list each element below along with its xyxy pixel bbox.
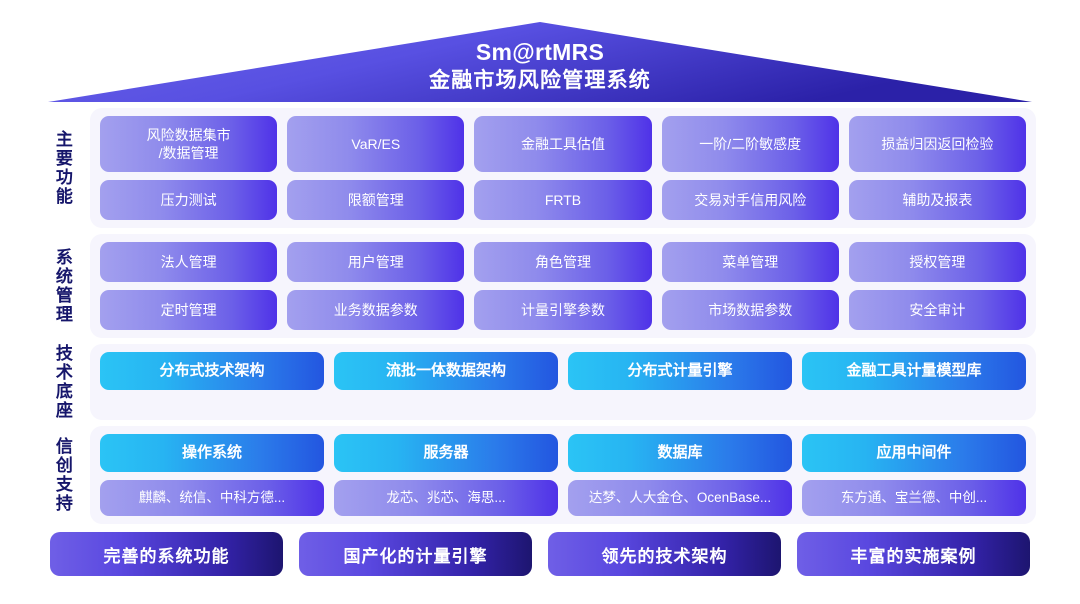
system-tile-label-0-0: 法人管理 (161, 253, 217, 271)
function-tile[interactable]: 损益归因返回检验 (849, 116, 1026, 172)
architecture-board: 主要功能 风险数据集市/数据管理 VaR/ES 金融工具估值 一阶/二阶敏感度 … (0, 108, 1080, 530)
function-tile-label-1-4: 辅助及报表 (902, 191, 972, 209)
innovation-category-tile[interactable]: 操作系统 (100, 434, 324, 472)
system-tile-label-1-0: 定时管理 (161, 301, 217, 319)
highlight-banner-row: 完善的系统功能 国产化的计量引擎 领先的技术架构 丰富的实施案例 (50, 532, 1030, 576)
innovation-category-label-3: 应用中间件 (876, 444, 951, 462)
tech-tile-label-1: 流批一体数据架构 (386, 362, 506, 380)
tech-tile[interactable]: 分布式计量引擎 (568, 352, 792, 390)
function-tile-label-1-1: 限额管理 (348, 191, 404, 209)
innovation-vendor-label-3: 东方通、宝兰德、中创... (841, 489, 987, 507)
tech-tile-label-3: 金融工具计量模型库 (846, 362, 981, 380)
roof-header: Sm@rtMRS 金融市场风险管理系统 (0, 0, 1080, 108)
innovation-category-label-2: 数据库 (657, 444, 702, 462)
tech-tile-label-0: 分布式技术架构 (159, 362, 264, 380)
system-tile[interactable]: 市场数据参数 (662, 290, 839, 330)
innovation-header-row: 操作系统 服务器 数据库 应用中间件 (100, 434, 1026, 472)
system-tile-label-1-1: 业务数据参数 (334, 301, 418, 319)
innovation-vendor-label-2: 达梦、人大金仓、OcenBase... (589, 489, 771, 507)
section-tech-foundation: 技术底座 分布式技术架构 流批一体数据架构 分布式计量引擎 金融工具计量模型库 (0, 344, 1080, 420)
system-tile-label-1-3: 市场数据参数 (708, 301, 792, 319)
innovation-vendor-label-1: 龙芯、兆芯、海思... (386, 489, 505, 507)
function-tile[interactable]: VaR/ES (287, 116, 464, 172)
system-tile[interactable]: 角色管理 (474, 242, 651, 282)
highlight-banner-label-1: 国产化的计量引擎 (344, 542, 488, 567)
system-tile-label-1-4: 安全审计 (909, 301, 965, 319)
function-tile[interactable]: 风险数据集市/数据管理 (100, 116, 277, 172)
section-innovation-support: 信创支持 操作系统 服务器 数据库 应用中间件 麒麟、统信、中科方德... 龙芯… (0, 426, 1080, 524)
system-tile-label-0-4: 授权管理 (909, 253, 965, 271)
function-tile[interactable]: 辅助及报表 (849, 180, 1026, 220)
function-tile-label-0-2: 金融工具估值 (521, 135, 605, 153)
roof-triangle-icon (0, 0, 1080, 108)
panel-innovation-support: 操作系统 服务器 数据库 应用中间件 麒麟、统信、中科方德... 龙芯、兆芯、海… (90, 426, 1036, 524)
highlight-banner[interactable]: 领先的技术架构 (548, 532, 781, 576)
function-row-1: 风险数据集市/数据管理 VaR/ES 金融工具估值 一阶/二阶敏感度 损益归因返… (100, 116, 1026, 172)
system-row-2: 定时管理 业务数据参数 计量引擎参数 市场数据参数 安全审计 (100, 290, 1026, 330)
panel-system-management: 法人管理 用户管理 角色管理 菜单管理 授权管理 定时管理 业务数据参数 计量引… (90, 234, 1036, 338)
tech-tile-label-2: 分布式计量引擎 (627, 362, 732, 380)
innovation-category-label-0: 操作系统 (182, 444, 242, 462)
highlight-banner[interactable]: 丰富的实施案例 (797, 532, 1030, 576)
section-label-innovation-support: 信创支持 (0, 426, 90, 524)
function-row-2: 压力测试 限额管理 FRTB 交易对手信用风险 辅助及报表 (100, 180, 1026, 220)
section-label-tech-foundation: 技术底座 (0, 344, 90, 420)
function-tile[interactable]: 交易对手信用风险 (662, 180, 839, 220)
tech-row-1: 分布式技术架构 流批一体数据架构 分布式计量引擎 金融工具计量模型库 (100, 352, 1026, 390)
innovation-category-label-1: 服务器 (423, 444, 468, 462)
tech-tile[interactable]: 金融工具计量模型库 (802, 352, 1026, 390)
function-tile[interactable]: FRTB (474, 180, 651, 220)
innovation-vendor-label-0: 麒麟、统信、中科方德... (139, 489, 285, 507)
innovation-category-tile[interactable]: 应用中间件 (802, 434, 1026, 472)
function-tile-label-1-2: FRTB (545, 191, 581, 209)
tech-tile[interactable]: 流批一体数据架构 (334, 352, 558, 390)
panel-main-functions: 风险数据集市/数据管理 VaR/ES 金融工具估值 一阶/二阶敏感度 损益归因返… (90, 108, 1036, 228)
highlight-banner[interactable]: 国产化的计量引擎 (299, 532, 532, 576)
system-tile-label-0-2: 角色管理 (535, 253, 591, 271)
function-tile-label-0-4: 损益归因返回检验 (881, 135, 993, 153)
system-tile[interactable]: 法人管理 (100, 242, 277, 282)
function-tile-label-1-3: 交易对手信用风险 (694, 191, 806, 209)
innovation-vendor-tile[interactable]: 龙芯、兆芯、海思... (334, 480, 558, 516)
section-label-system-management: 系统管理 (0, 234, 90, 338)
system-tile[interactable]: 定时管理 (100, 290, 277, 330)
innovation-vendor-tile[interactable]: 东方通、宝兰德、中创... (802, 480, 1026, 516)
highlight-banner[interactable]: 完善的系统功能 (50, 532, 283, 576)
innovation-category-tile[interactable]: 数据库 (568, 434, 792, 472)
highlight-banner-label-3: 丰富的实施案例 (851, 542, 977, 567)
system-tile-label-0-3: 菜单管理 (722, 253, 778, 271)
system-tile[interactable]: 计量引擎参数 (474, 290, 651, 330)
innovation-vendor-row: 麒麟、统信、中科方德... 龙芯、兆芯、海思... 达梦、人大金仓、OcenBa… (100, 480, 1026, 516)
system-tile[interactable]: 用户管理 (287, 242, 464, 282)
innovation-vendor-tile[interactable]: 达梦、人大金仓、OcenBase... (568, 480, 792, 516)
function-tile-label-0-3: 一阶/二阶敏感度 (699, 135, 801, 153)
function-tile-label-0-0: 风险数据集市/数据管理 (147, 126, 231, 162)
highlight-banner-label-2: 领先的技术架构 (602, 542, 728, 567)
panel-tech-foundation: 分布式技术架构 流批一体数据架构 分布式计量引擎 金融工具计量模型库 (90, 344, 1036, 420)
function-tile[interactable]: 压力测试 (100, 180, 277, 220)
system-tile-label-1-2: 计量引擎参数 (521, 301, 605, 319)
system-tile[interactable]: 业务数据参数 (287, 290, 464, 330)
function-tile-label-0-1: VaR/ES (351, 135, 400, 153)
tech-tile[interactable]: 分布式技术架构 (100, 352, 324, 390)
section-main-functions: 主要功能 风险数据集市/数据管理 VaR/ES 金融工具估值 一阶/二阶敏感度 … (0, 108, 1080, 228)
function-tile[interactable]: 金融工具估值 (474, 116, 651, 172)
innovation-vendor-tile[interactable]: 麒麟、统信、中科方德... (100, 480, 324, 516)
highlight-banner-label-0: 完善的系统功能 (104, 542, 230, 567)
innovation-category-tile[interactable]: 服务器 (334, 434, 558, 472)
section-label-main-functions: 主要功能 (0, 108, 90, 228)
system-row-1: 法人管理 用户管理 角色管理 菜单管理 授权管理 (100, 242, 1026, 282)
system-tile[interactable]: 菜单管理 (662, 242, 839, 282)
section-system-management: 系统管理 法人管理 用户管理 角色管理 菜单管理 授权管理 定时管理 业务数据参… (0, 234, 1080, 338)
system-tile[interactable]: 授权管理 (849, 242, 1026, 282)
function-tile[interactable]: 一阶/二阶敏感度 (662, 116, 839, 172)
function-tile-label-1-0: 压力测试 (161, 191, 217, 209)
system-tile[interactable]: 安全审计 (849, 290, 1026, 330)
function-tile[interactable]: 限额管理 (287, 180, 464, 220)
system-tile-label-0-1: 用户管理 (348, 253, 404, 271)
